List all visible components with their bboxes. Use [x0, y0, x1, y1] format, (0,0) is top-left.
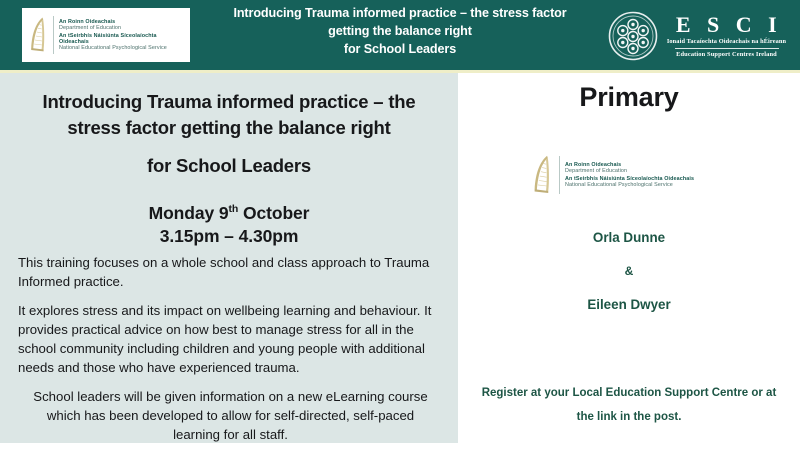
dept-english-name: Department of Education [59, 25, 185, 31]
department-of-education-logo-secondary: An Roinn Oideachais Department of Educat… [530, 151, 730, 199]
header-title-line3: for School Leaders [196, 41, 604, 59]
department-of-education-logo: An Roinn Oideachais Department of Educat… [22, 8, 190, 62]
department-logo-text: An Roinn Oideachais Department of Educat… [565, 162, 730, 189]
event-title: Introducing Trauma informed practice – t… [18, 89, 440, 179]
presenter-name-2: Eileen Dwyer [458, 298, 800, 311]
event-title-line3: for School Leaders [18, 153, 440, 179]
poster-root: An Roinn Oideachais Department of Educat… [0, 0, 800, 450]
event-date-day: Monday 9 [149, 203, 229, 223]
esci-english-name: Education Support Centres Ireland [665, 51, 788, 58]
left-content-panel: Introducing Trauma informed practice – t… [0, 73, 458, 443]
header-bar: An Roinn Oideachais Department of Educat… [0, 0, 800, 70]
esci-logo-text: E S C I Ionaid Tacaíochta Oideachais na … [665, 14, 788, 58]
event-date: Monday 9th October [12, 202, 446, 225]
event-description: This training focuses on a whole school … [12, 254, 446, 445]
harp-icon [530, 153, 552, 197]
department-logo-text: An Roinn Oideachais Department of Educat… [59, 19, 185, 52]
header-title-line2: getting the balance right [196, 23, 604, 41]
dept-english-name: Department of Education [565, 168, 730, 174]
esci-wordmark: E S C I [670, 14, 788, 36]
event-time: 3.15pm – 4.30pm [12, 225, 446, 248]
event-title-line1: Introducing Trauma informed practice – t… [43, 91, 416, 112]
harp-icon [27, 15, 47, 55]
registration-instructions: Register at your Local Education Support… [472, 381, 786, 429]
header-title-line1: Introducing Trauma informed practice – t… [233, 6, 566, 20]
description-paragraph-3: School leaders will be given information… [18, 388, 443, 444]
esci-divider [675, 48, 779, 49]
service-english-name: National Educational Psychological Servi… [565, 182, 730, 188]
esci-logo: E S C I Ionaid Tacaíochta Oideachais na … [608, 8, 788, 63]
presenter-list: Orla Dunne & Eileen Dwyer [458, 231, 800, 312]
description-paragraph-1: This training focuses on a whole school … [18, 254, 443, 291]
presenter-ampersand: & [458, 265, 800, 277]
event-date-month: October [238, 203, 309, 223]
sector-heading: Primary [458, 82, 800, 113]
esci-irish-name: Ionaid Tacaíochta Oideachais na hÉireann [665, 38, 788, 45]
logo-divider [53, 16, 54, 54]
event-title-line2: stress factor getting the balance right [67, 117, 390, 138]
presenter-name-1: Orla Dunne [458, 231, 800, 244]
description-paragraph-2: It explores stress and its impact on wel… [18, 302, 443, 377]
event-date-suffix: th [229, 203, 239, 215]
header-title: Introducing Trauma informed practice – t… [196, 5, 604, 59]
service-english-name: National Educational Psychological Servi… [59, 45, 185, 51]
service-irish-name: An tSeirbhís Náisiúnta Síceolaíochta Oid… [59, 33, 185, 45]
right-content-panel: Primary An Roinn Oideachais Department o… [458, 73, 800, 450]
logo-divider [559, 156, 560, 194]
esci-celtic-spiral-icon [608, 11, 658, 61]
